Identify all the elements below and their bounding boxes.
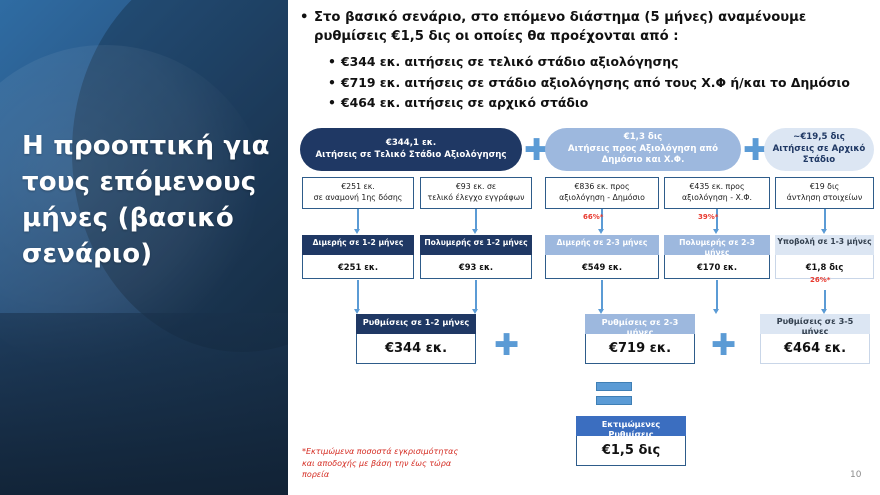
stage-box-4-value: €170 εκ.: [664, 255, 770, 279]
detail-box-1: €251 εκ. σε αναμονή 1ης δόσης: [302, 177, 414, 209]
detail-box-1-line1: €251 εκ.: [314, 182, 403, 193]
stage-box-2-header: Πολυμερής σε 1-2 μήνες: [420, 235, 532, 255]
percentage-label-66: 66%*: [583, 213, 603, 221]
detail-box-3-line2: αξιολόγηση - Δημόσιο: [559, 193, 645, 204]
detail-box-4: €435 εκ. προς αξιολόγηση - Χ.Φ.: [664, 177, 770, 209]
stage-box-4: Πολυμερής σε 2-3 μήνες €170 εκ.: [664, 235, 770, 279]
bullet-sub-1-text: €344 εκ. αιτήσεις σε τελικό στάδιο αξιολ…: [341, 52, 872, 73]
bullet-sub-2: • €719 εκ. αιτήσεις σε στάδιο αξιολόγηση…: [328, 73, 872, 94]
bullet-dot-icon: •: [328, 93, 341, 114]
slide-canvas: Η προοπτική για τους επόμενους μήνες (βα…: [0, 0, 880, 495]
stage-box-5: Υποβολή σε 1-3 μήνες €1,8 δις: [775, 235, 874, 279]
detail-box-1-line2: σε αναμονή 1ης δόσης: [314, 193, 403, 204]
result-box-2-header: Ρυθμίσεις σε 2-3 μήνες: [585, 314, 695, 334]
detail-box-4-line1: €435 εκ. προς: [682, 182, 752, 193]
result-box-2-value: €719 εκ.: [585, 334, 695, 364]
stage-box-1-header: Διμερής σε 1-2 μήνες: [302, 235, 414, 255]
title-panel: Η προοπτική για τους επόμενους μήνες (βα…: [0, 0, 288, 495]
stage-box-3-header: Διμερής σε 2-3 μήνες: [545, 235, 659, 255]
result-box-3: Ρυθμίσεις σε 3-5 μήνες €464 εκ.: [760, 314, 870, 364]
equals-icon: [596, 382, 632, 405]
connector-arrow-3: [598, 229, 604, 234]
detail-box-5-line2: άντληση στοιχείων: [787, 193, 862, 204]
page-title: Η προοπτική για τους επόμενους μήνες (βα…: [22, 128, 272, 272]
detail-box-2-line2: τελικό έλεγχο εγγράφων: [428, 193, 525, 204]
bullet-dot-icon: •: [328, 52, 341, 73]
stage-box-1-value: €251 εκ.: [302, 255, 414, 279]
stage-box-1: Διμερής σε 1-2 μήνες €251 εκ.: [302, 235, 414, 279]
connector-arrow-9: [713, 309, 719, 314]
top-pill-initial-stage-amount: ~€19,5 δις: [770, 132, 868, 143]
page-number: 10: [850, 470, 861, 480]
stage-box-2: Πολυμερής σε 1-2 μήνες €93 εκ.: [420, 235, 532, 279]
stage-box-4-header: Πολυμερής σε 2-3 μήνες: [664, 235, 770, 255]
connector-7: [475, 280, 477, 311]
percentage-label-39: 39%*: [698, 213, 718, 221]
bullet-list: • Στο βασικό σενάριο, στο επόμενο διάστη…: [300, 8, 872, 114]
total-box-value: €1,5 δις: [576, 436, 686, 466]
decorative-lower-band: [0, 313, 288, 495]
bullet-sublist: • €344 εκ. αιτήσεις σε τελικό στάδιο αξι…: [300, 52, 872, 114]
connector-8: [601, 280, 603, 311]
stage-box-2-value: €93 εκ.: [420, 255, 532, 279]
top-pill-initial-stage-label: Αιτήσεις σε Αρχικό Στάδιο: [770, 144, 868, 167]
connector-arrow-2: [472, 229, 478, 234]
top-pill-initial-stage: ~€19,5 δις Αιτήσεις σε Αρχικό Στάδιο: [764, 128, 874, 171]
bullet-main-text: Στο βασικό σενάριο, στο επόμενο διάστημα…: [314, 8, 872, 46]
result-box-3-value: €464 εκ.: [760, 334, 870, 364]
plus-icon-result-2: ✚: [711, 331, 736, 361]
result-box-3-header: Ρυθμίσεις σε 3-5 μήνες: [760, 314, 870, 334]
connector-arrow-5: [821, 229, 827, 234]
bullet-dot-icon: •: [328, 73, 341, 94]
total-box: Εκτιμώμενες Ρυθμίσεις €1,5 δις: [576, 416, 686, 466]
connector-2: [475, 209, 477, 231]
top-pill-evaluation: €1,3 δις Αιτήσεις προς Αξιολόγηση από Δη…: [545, 128, 741, 171]
stage-box-3: Διμερής σε 2-3 μήνες €549 εκ.: [545, 235, 659, 279]
stage-box-3-value: €549 εκ.: [545, 255, 659, 279]
result-box-1: Ρυθμίσεις σε 1-2 μήνες €344 εκ.: [356, 314, 476, 364]
connector-arrow-4: [713, 229, 719, 234]
bullet-sub-2-text: €719 εκ. αιτήσεις σε στάδιο αξιολόγησης …: [341, 73, 872, 94]
bullet-dot-icon: •: [300, 8, 314, 46]
result-box-1-value: €344 εκ.: [356, 334, 476, 364]
detail-box-2-line1: €93 εκ. σε: [428, 182, 525, 193]
bullet-sub-3-text: €464 εκ. αιτήσεις σε αρχικό στάδιο: [341, 93, 872, 114]
result-box-2: Ρυθμίσεις σε 2-3 μήνες €719 εκ.: [585, 314, 695, 364]
connector-6: [357, 280, 359, 311]
flow-diagram: €344,1 εκ. Αιτήσεις σε Τελικό Στάδιο Αξι…: [296, 128, 876, 488]
top-pill-evaluation-label: Αιτήσεις προς Αξιολόγηση από Δημόσιο και…: [551, 144, 735, 167]
detail-box-3-line1: €836 εκ. προς: [559, 182, 645, 193]
total-box-header: Εκτιμώμενες Ρυθμίσεις: [576, 416, 686, 436]
footnote: *Εκτιμώμενα ποσοστά εγκρισιμότητας και α…: [302, 446, 462, 481]
detail-box-5: €19 δις άντληση στοιχείων: [775, 177, 874, 209]
top-pill-evaluation-amount: €1,3 δις: [551, 132, 735, 143]
connector-5: [824, 209, 826, 231]
connector-1: [357, 209, 359, 231]
connector-arrow-1: [354, 229, 360, 234]
result-box-1-header: Ρυθμίσεις σε 1-2 μήνες: [356, 314, 476, 334]
bullet-main: • Στο βασικό σενάριο, στο επόμενο διάστη…: [300, 8, 872, 46]
top-pill-final-stage: €344,1 εκ. Αιτήσεις σε Τελικό Στάδιο Αξι…: [300, 128, 522, 171]
detail-box-3: €836 εκ. προς αξιολόγηση - Δημόσιο: [545, 177, 659, 209]
connector-9: [716, 280, 718, 311]
detail-box-4-line2: αξιολόγηση - Χ.Φ.: [682, 193, 752, 204]
bullet-sub-1: • €344 εκ. αιτήσεις σε τελικό στάδιο αξι…: [328, 52, 872, 73]
stage-box-5-header: Υποβολή σε 1-3 μήνες: [775, 235, 874, 255]
percentage-label-26: 26%*: [810, 276, 830, 284]
connector-10: [824, 290, 826, 311]
bullet-sub-3: • €464 εκ. αιτήσεις σε αρχικό στάδιο: [328, 93, 872, 114]
top-pill-final-stage-label: Αιτήσεις σε Τελικό Στάδιο Αξιολόγησης: [315, 150, 506, 161]
top-pill-final-stage-amount: €344,1 εκ.: [315, 138, 506, 149]
plus-icon-result-1: ✚: [494, 331, 519, 361]
detail-box-2: €93 εκ. σε τελικό έλεγχο εγγράφων: [420, 177, 532, 209]
detail-box-5-line1: €19 δις: [787, 182, 862, 193]
